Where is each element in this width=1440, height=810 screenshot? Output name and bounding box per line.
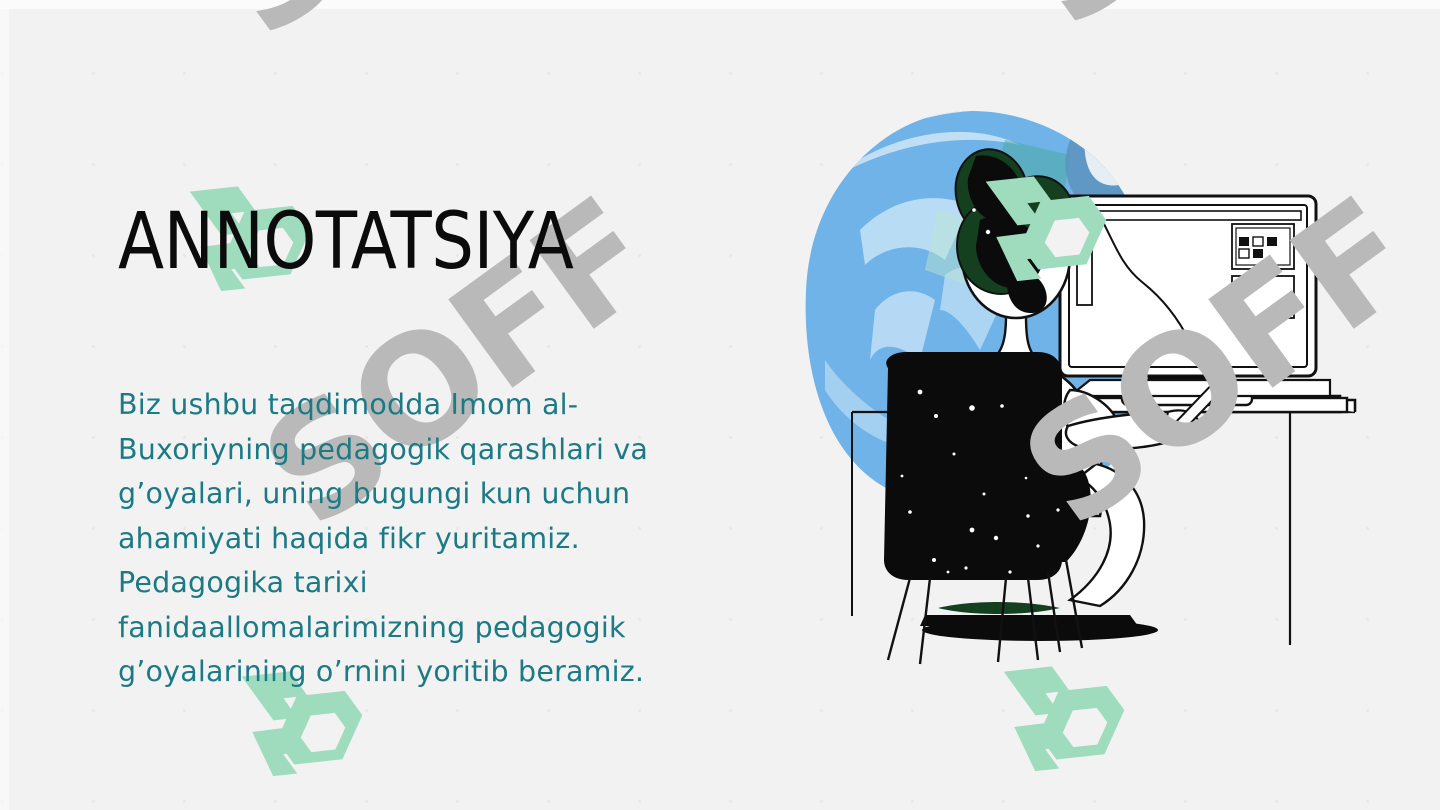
watermark-text-1: SOFF bbox=[190, 0, 628, 61]
slide-body-paragraph: Biz ushbu taqdimodda Imom al-Buxoriyning… bbox=[118, 383, 718, 695]
computer-monitor bbox=[1060, 196, 1316, 405]
page-title: ANNOTATSIYA bbox=[118, 203, 573, 281]
drawing-tablet bbox=[1070, 380, 1330, 396]
slide-top-edge bbox=[0, 0, 1440, 9]
slide-left-edge bbox=[0, 0, 9, 810]
illustration-person-drawing-at-computer bbox=[770, 60, 1370, 720]
monitor-left-tool-panel bbox=[1077, 227, 1092, 305]
monitor-toolbar-panel bbox=[1075, 211, 1301, 220]
watermark-label: SOFF bbox=[190, 0, 628, 61]
presentation-slide: ANNOTATSIYA Biz ushbu taqdimodda Imom al… bbox=[0, 0, 1440, 810]
floor-shadow bbox=[920, 602, 1158, 641]
